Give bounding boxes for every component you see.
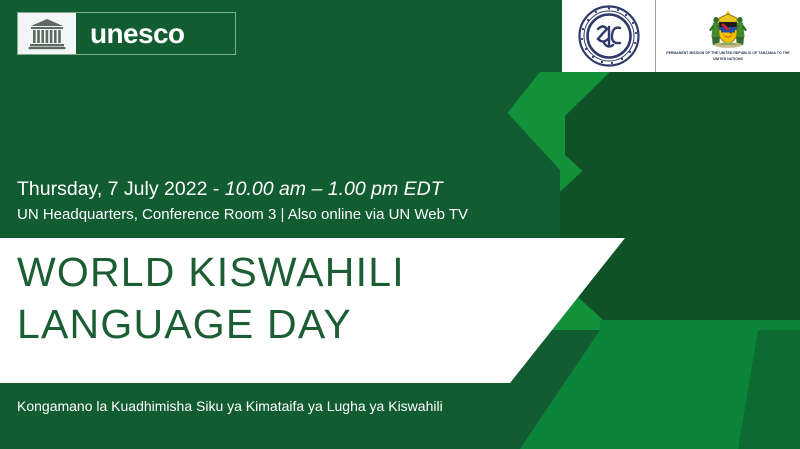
page-title: WORLD KISWAHILI LANGUAGE DAY: [17, 246, 405, 350]
sadc-circular-emblem-icon: [562, 0, 655, 72]
tanzania-mission-caption: PERMANENT MISSION OF THE UNITED REPUBLIC…: [664, 51, 792, 61]
partner-logos-bar: PERMANENT MISSION OF THE UNITED REPUBLIC…: [562, 0, 800, 72]
unesco-temple-icon: [18, 13, 76, 54]
event-meta: Thursday, 7 July 2022 - 10.00 am – 1.00 …: [17, 176, 537, 226]
page-title-line-1: WORLD KISWAHILI: [17, 246, 405, 298]
event-datetime-line: Thursday, 7 July 2022 - 10.00 am – 1.00 …: [17, 176, 537, 202]
event-date: Thursday, 7 July 2022 -: [17, 178, 225, 200]
tanzania-coat-of-arms-icon: [703, 9, 753, 49]
event-time: 10.00 am – 1.00 pm EDT: [225, 178, 443, 200]
tanzania-permanent-mission-logo: PERMANENT MISSION OF THE UNITED REPUBLIC…: [656, 0, 800, 72]
unesco-wordmark: unesco: [76, 13, 235, 54]
event-venue: UN Headquarters, Conference Room 3 | Als…: [17, 204, 537, 226]
page-title-line-2: LANGUAGE DAY: [17, 298, 405, 350]
world-kiswahili-language-day-poster: unesco: [0, 0, 800, 449]
subtitle-swahili: Kongamano la Kuadhimisha Siku ya Kimatai…: [17, 396, 443, 416]
unesco-logo: unesco: [17, 12, 236, 55]
